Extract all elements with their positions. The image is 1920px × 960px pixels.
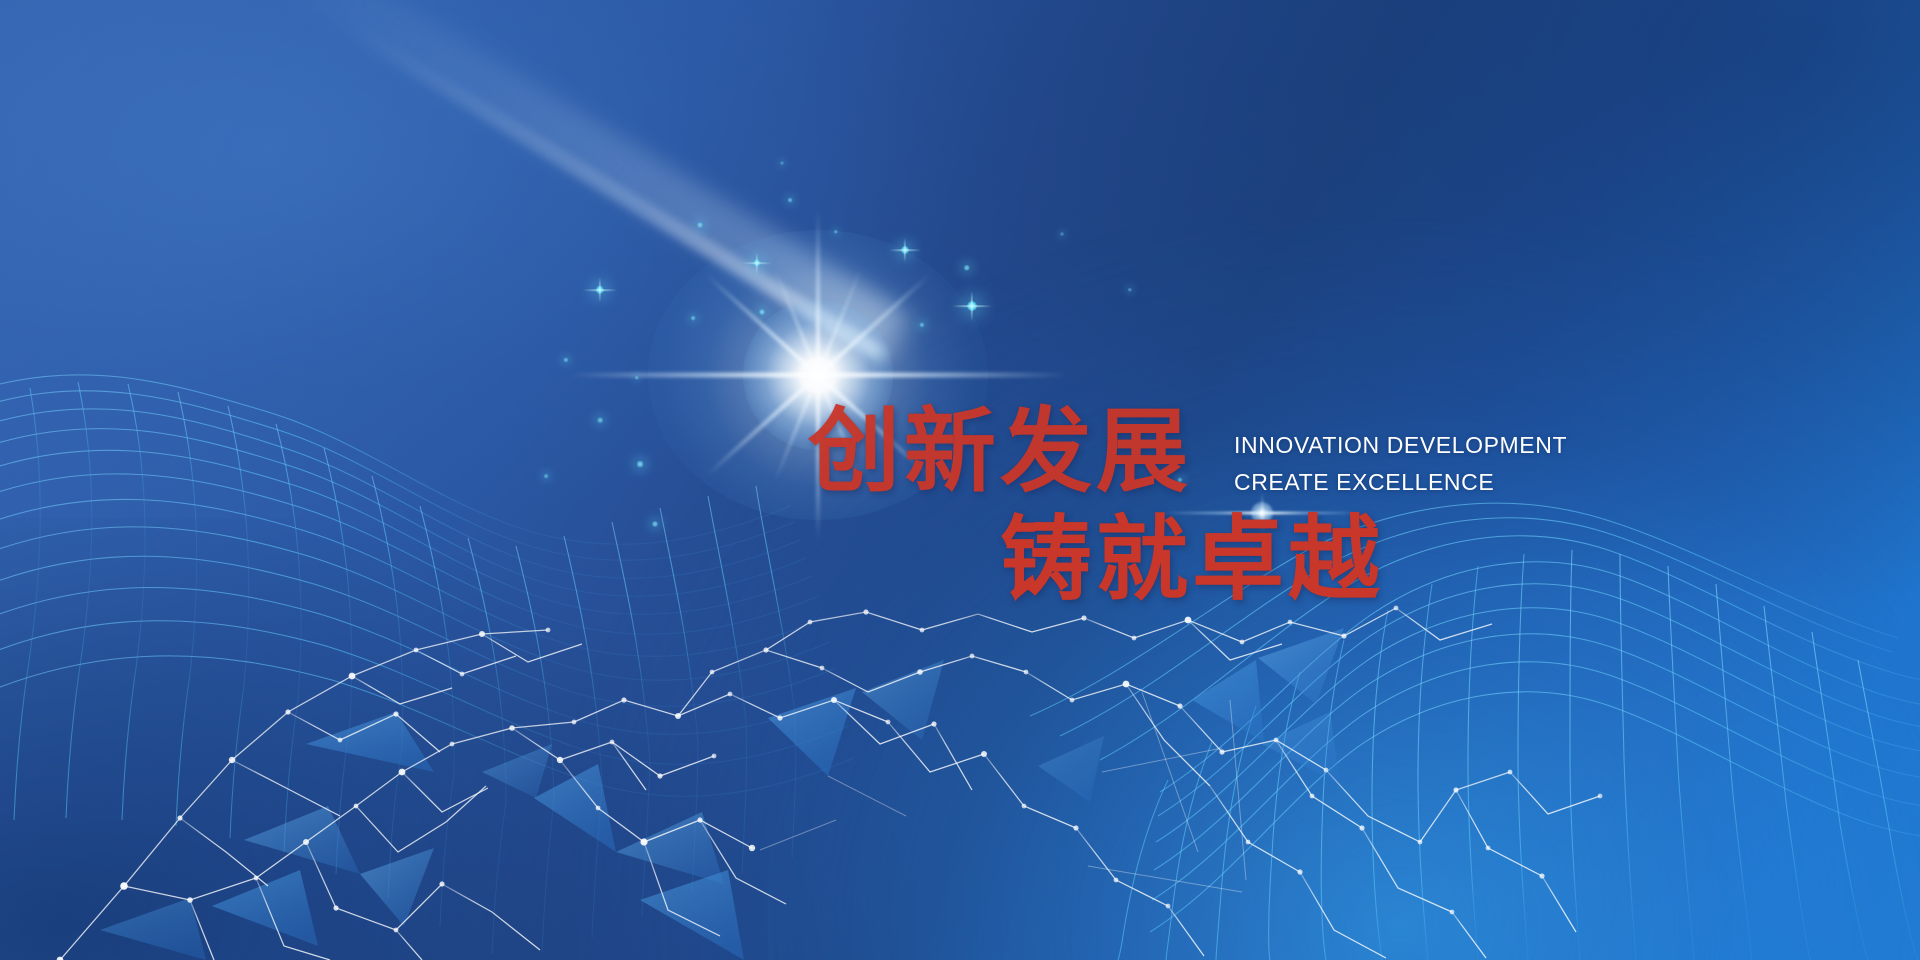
subhead-line-2: CREATE EXCELLENCE [1234,464,1567,501]
background-vignette-bottom-left [0,518,768,960]
subhead-block: INNOVATION DEVELOPMENT CREATE EXCELLENCE [1234,427,1567,501]
subhead-line-1: INNOVATION DEVELOPMENT [1234,427,1567,464]
headline-line-2: 铸就卓越 [1000,506,1628,614]
hero-banner: 创新发展 铸就卓越 INNOVATION DEVELOPMENT CREATE … [0,0,1920,960]
